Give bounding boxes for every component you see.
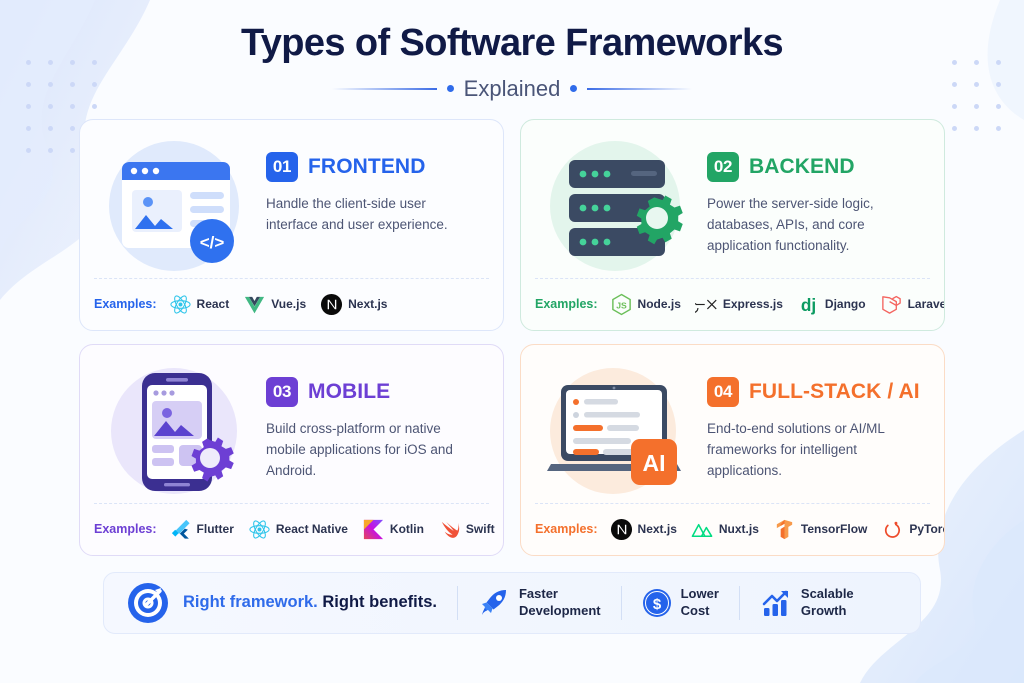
infographic-page: Types of Software Frameworks Explained	[0, 0, 1024, 683]
example-name: Django	[825, 297, 866, 311]
django-logo: dj	[797, 293, 820, 316]
svg-text:$: $	[652, 596, 661, 613]
example-react-native[interactable]: React Native	[248, 518, 348, 541]
card-backend-top: 02 BACKEND Power the server-side logic, …	[521, 120, 944, 278]
example-name: React	[197, 297, 230, 311]
card-title: MOBILE	[308, 380, 390, 404]
example-pytorch[interactable]: PyTorch	[881, 518, 945, 541]
banner-slogan: Right framework. Right benefits.	[183, 593, 437, 612]
card-description: Power the server-side logic, databases, …	[707, 193, 924, 257]
svg-text:dj: dj	[801, 295, 816, 315]
subtitle-dot-right	[570, 85, 577, 92]
card-number-badge: 03	[266, 377, 298, 407]
subtitle-line-right	[587, 88, 692, 90]
benefit-line1: Lower	[681, 586, 719, 602]
subtitle-line-left	[332, 88, 437, 90]
example-name: Swift	[466, 522, 495, 536]
banner-divider	[739, 586, 740, 620]
example-tensorflow[interactable]: TensorFlow	[773, 518, 867, 541]
example-nodejs[interactable]: JS Node.js	[610, 293, 681, 316]
examples-label: Examples:	[535, 297, 598, 311]
card-fullstack-ai-examples: Examples: Next.js Nuxt.js	[535, 503, 930, 555]
card-description: End-to-end solutions or AI/ML frameworks…	[707, 418, 922, 482]
slogan-part1: Right framework.	[183, 593, 318, 611]
header: Types of Software Frameworks Explained	[0, 0, 1024, 102]
example-django[interactable]: dj Django	[797, 293, 866, 316]
example-swift[interactable]: Swift	[438, 518, 495, 541]
pytorch-logo	[881, 518, 904, 541]
card-fullstack-ai-top: AI 04 FULL-STACK / AI End-to-end solutio…	[521, 345, 944, 503]
examples-label: Examples:	[94, 522, 157, 536]
example-expressjs[interactable]: Express.js	[695, 293, 783, 316]
example-name: Laravel	[908, 297, 945, 311]
card-mobile-examples: Examples: Flutter	[94, 503, 489, 555]
benefit-scalable-growth: Scalable Growth	[760, 586, 854, 619]
card-backend[interactable]: 02 BACKEND Power the server-side logic, …	[520, 119, 945, 331]
browser-window-code-icon: </>	[88, 130, 266, 278]
laptop-ai-icon: AI	[529, 355, 707, 503]
benefit-text: Lower Cost	[681, 586, 719, 619]
benefit-line2: Cost	[681, 603, 719, 619]
banner-divider	[457, 586, 458, 620]
nuxt-logo	[691, 518, 714, 541]
nextjs-logo	[320, 293, 343, 316]
card-fullstack-ai[interactable]: AI 04 FULL-STACK / AI End-to-end solutio…	[520, 344, 945, 556]
card-mobile-text: 03 MOBILE Build cross-platform or native…	[266, 355, 489, 503]
card-backend-heading: 02 BACKEND	[707, 152, 924, 182]
banner-slogan-group: Right framework. Right benefits.	[126, 581, 437, 625]
card-mobile-heading: 03 MOBILE	[266, 377, 483, 407]
banner-divider	[621, 586, 622, 620]
target-dart-icon	[126, 581, 170, 625]
page-title: Types of Software Frameworks	[0, 22, 1024, 66]
card-frontend-top: </> 01 FRONTEND Handle the client-side u…	[80, 120, 503, 278]
subtitle-dot-left	[447, 85, 454, 92]
nextjs-logo	[610, 518, 633, 541]
benefit-line1: Faster	[519, 586, 601, 602]
example-vuejs[interactable]: Vue.js	[243, 293, 306, 316]
growth-chart-icon	[760, 587, 792, 619]
benefit-line1: Scalable	[801, 586, 854, 602]
card-frontend-heading: 01 FRONTEND	[266, 152, 483, 182]
card-frontend-examples: Examples: React	[94, 278, 489, 330]
card-backend-text: 02 BACKEND Power the server-side logic, …	[707, 130, 930, 278]
example-nextjs[interactable]: Next.js	[320, 293, 387, 316]
example-nuxtjs[interactable]: Nuxt.js	[691, 518, 759, 541]
example-name: React Native	[276, 522, 348, 536]
svg-text:</>: </>	[200, 233, 225, 252]
nodejs-logo: JS	[610, 293, 633, 316]
react-logo	[169, 293, 192, 316]
card-description: Build cross-platform or native mobile ap…	[266, 418, 483, 482]
react-logo	[248, 518, 271, 541]
benefit-faster-development: Faster Development	[478, 586, 601, 619]
example-name: Kotlin	[390, 522, 424, 536]
benefits-banner: Right framework. Right benefits. Faster …	[103, 572, 921, 634]
benefit-line2: Growth	[801, 603, 854, 619]
examples-label: Examples:	[535, 522, 598, 536]
card-mobile-top: 03 MOBILE Build cross-platform or native…	[80, 345, 503, 503]
example-name: Node.js	[638, 297, 681, 311]
tensorflow-logo	[773, 518, 796, 541]
card-mobile[interactable]: 03 MOBILE Build cross-platform or native…	[79, 344, 504, 556]
dollar-coin-icon: $	[642, 588, 672, 618]
benefit-text: Scalable Growth	[801, 586, 854, 619]
card-frontend-text: 01 FRONTEND Handle the client-side user …	[266, 130, 489, 278]
svg-text:AI: AI	[643, 450, 666, 476]
page-subtitle: Explained	[464, 76, 561, 102]
example-name: Next.js	[348, 297, 387, 311]
card-title: FRONTEND	[308, 155, 425, 179]
benefit-lower-cost: $ Lower Cost	[642, 586, 719, 619]
example-laravel[interactable]: Laravel	[880, 293, 945, 316]
benefit-line2: Development	[519, 603, 601, 619]
example-name: TensorFlow	[801, 522, 867, 536]
example-name: Nuxt.js	[719, 522, 759, 536]
express-logo	[695, 293, 718, 316]
card-number-badge: 04	[707, 377, 739, 407]
card-title: FULL-STACK / AI	[749, 380, 920, 404]
subtitle-row: Explained	[0, 76, 1024, 102]
card-fullstack-ai-text: 04 FULL-STACK / AI End-to-end solutions …	[707, 355, 930, 503]
card-number-badge: 01	[266, 152, 298, 182]
card-fullstack-ai-heading: 04 FULL-STACK / AI	[707, 377, 924, 407]
example-name: Vue.js	[271, 297, 306, 311]
example-react[interactable]: React	[169, 293, 230, 316]
laravel-logo	[880, 293, 903, 316]
example-name: Flutter	[197, 522, 234, 536]
slogan-part2: Right benefits.	[322, 593, 437, 611]
card-description: Handle the client-side user interface an…	[266, 193, 481, 236]
example-flutter[interactable]: Flutter	[169, 518, 234, 541]
flutter-logo	[169, 518, 192, 541]
example-name: PyTorch	[909, 522, 945, 536]
smartphone-gear-icon	[88, 355, 266, 503]
vue-logo	[243, 293, 266, 316]
card-backend-examples: Examples: JS Node.js Express.js	[535, 278, 930, 330]
example-name: Next.js	[638, 522, 677, 536]
example-kotlin[interactable]: Kotlin	[362, 518, 424, 541]
framework-cards-grid: </> 01 FRONTEND Handle the client-side u…	[79, 119, 945, 556]
card-title: BACKEND	[749, 155, 855, 179]
benefit-text: Faster Development	[519, 586, 601, 619]
server-gear-icon	[529, 130, 707, 278]
examples-label: Examples:	[94, 297, 157, 311]
rocket-icon	[478, 587, 510, 619]
example-name: Express.js	[723, 297, 783, 311]
kotlin-logo	[362, 518, 385, 541]
example-nextjs[interactable]: Next.js	[610, 518, 677, 541]
card-number-badge: 02	[707, 152, 739, 182]
svg-text:JS: JS	[616, 300, 627, 310]
swift-logo	[438, 518, 461, 541]
card-frontend[interactable]: </> 01 FRONTEND Handle the client-side u…	[79, 119, 504, 331]
